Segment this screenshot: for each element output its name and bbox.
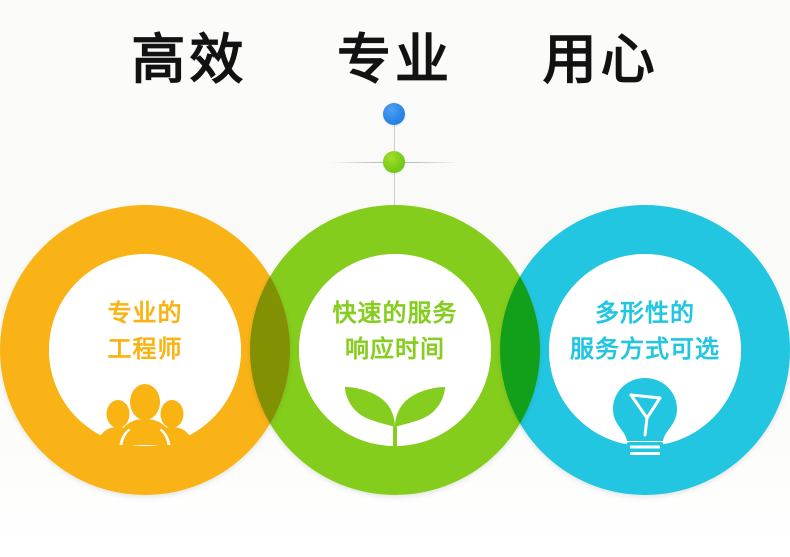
inner-disc-response xyxy=(299,254,491,446)
venn-rings-group xyxy=(0,0,790,557)
inner-disc-flexible xyxy=(549,254,741,446)
inner-disc-engineers xyxy=(49,254,241,446)
poster-canvas: 高效 专业 用心 xyxy=(0,0,790,557)
